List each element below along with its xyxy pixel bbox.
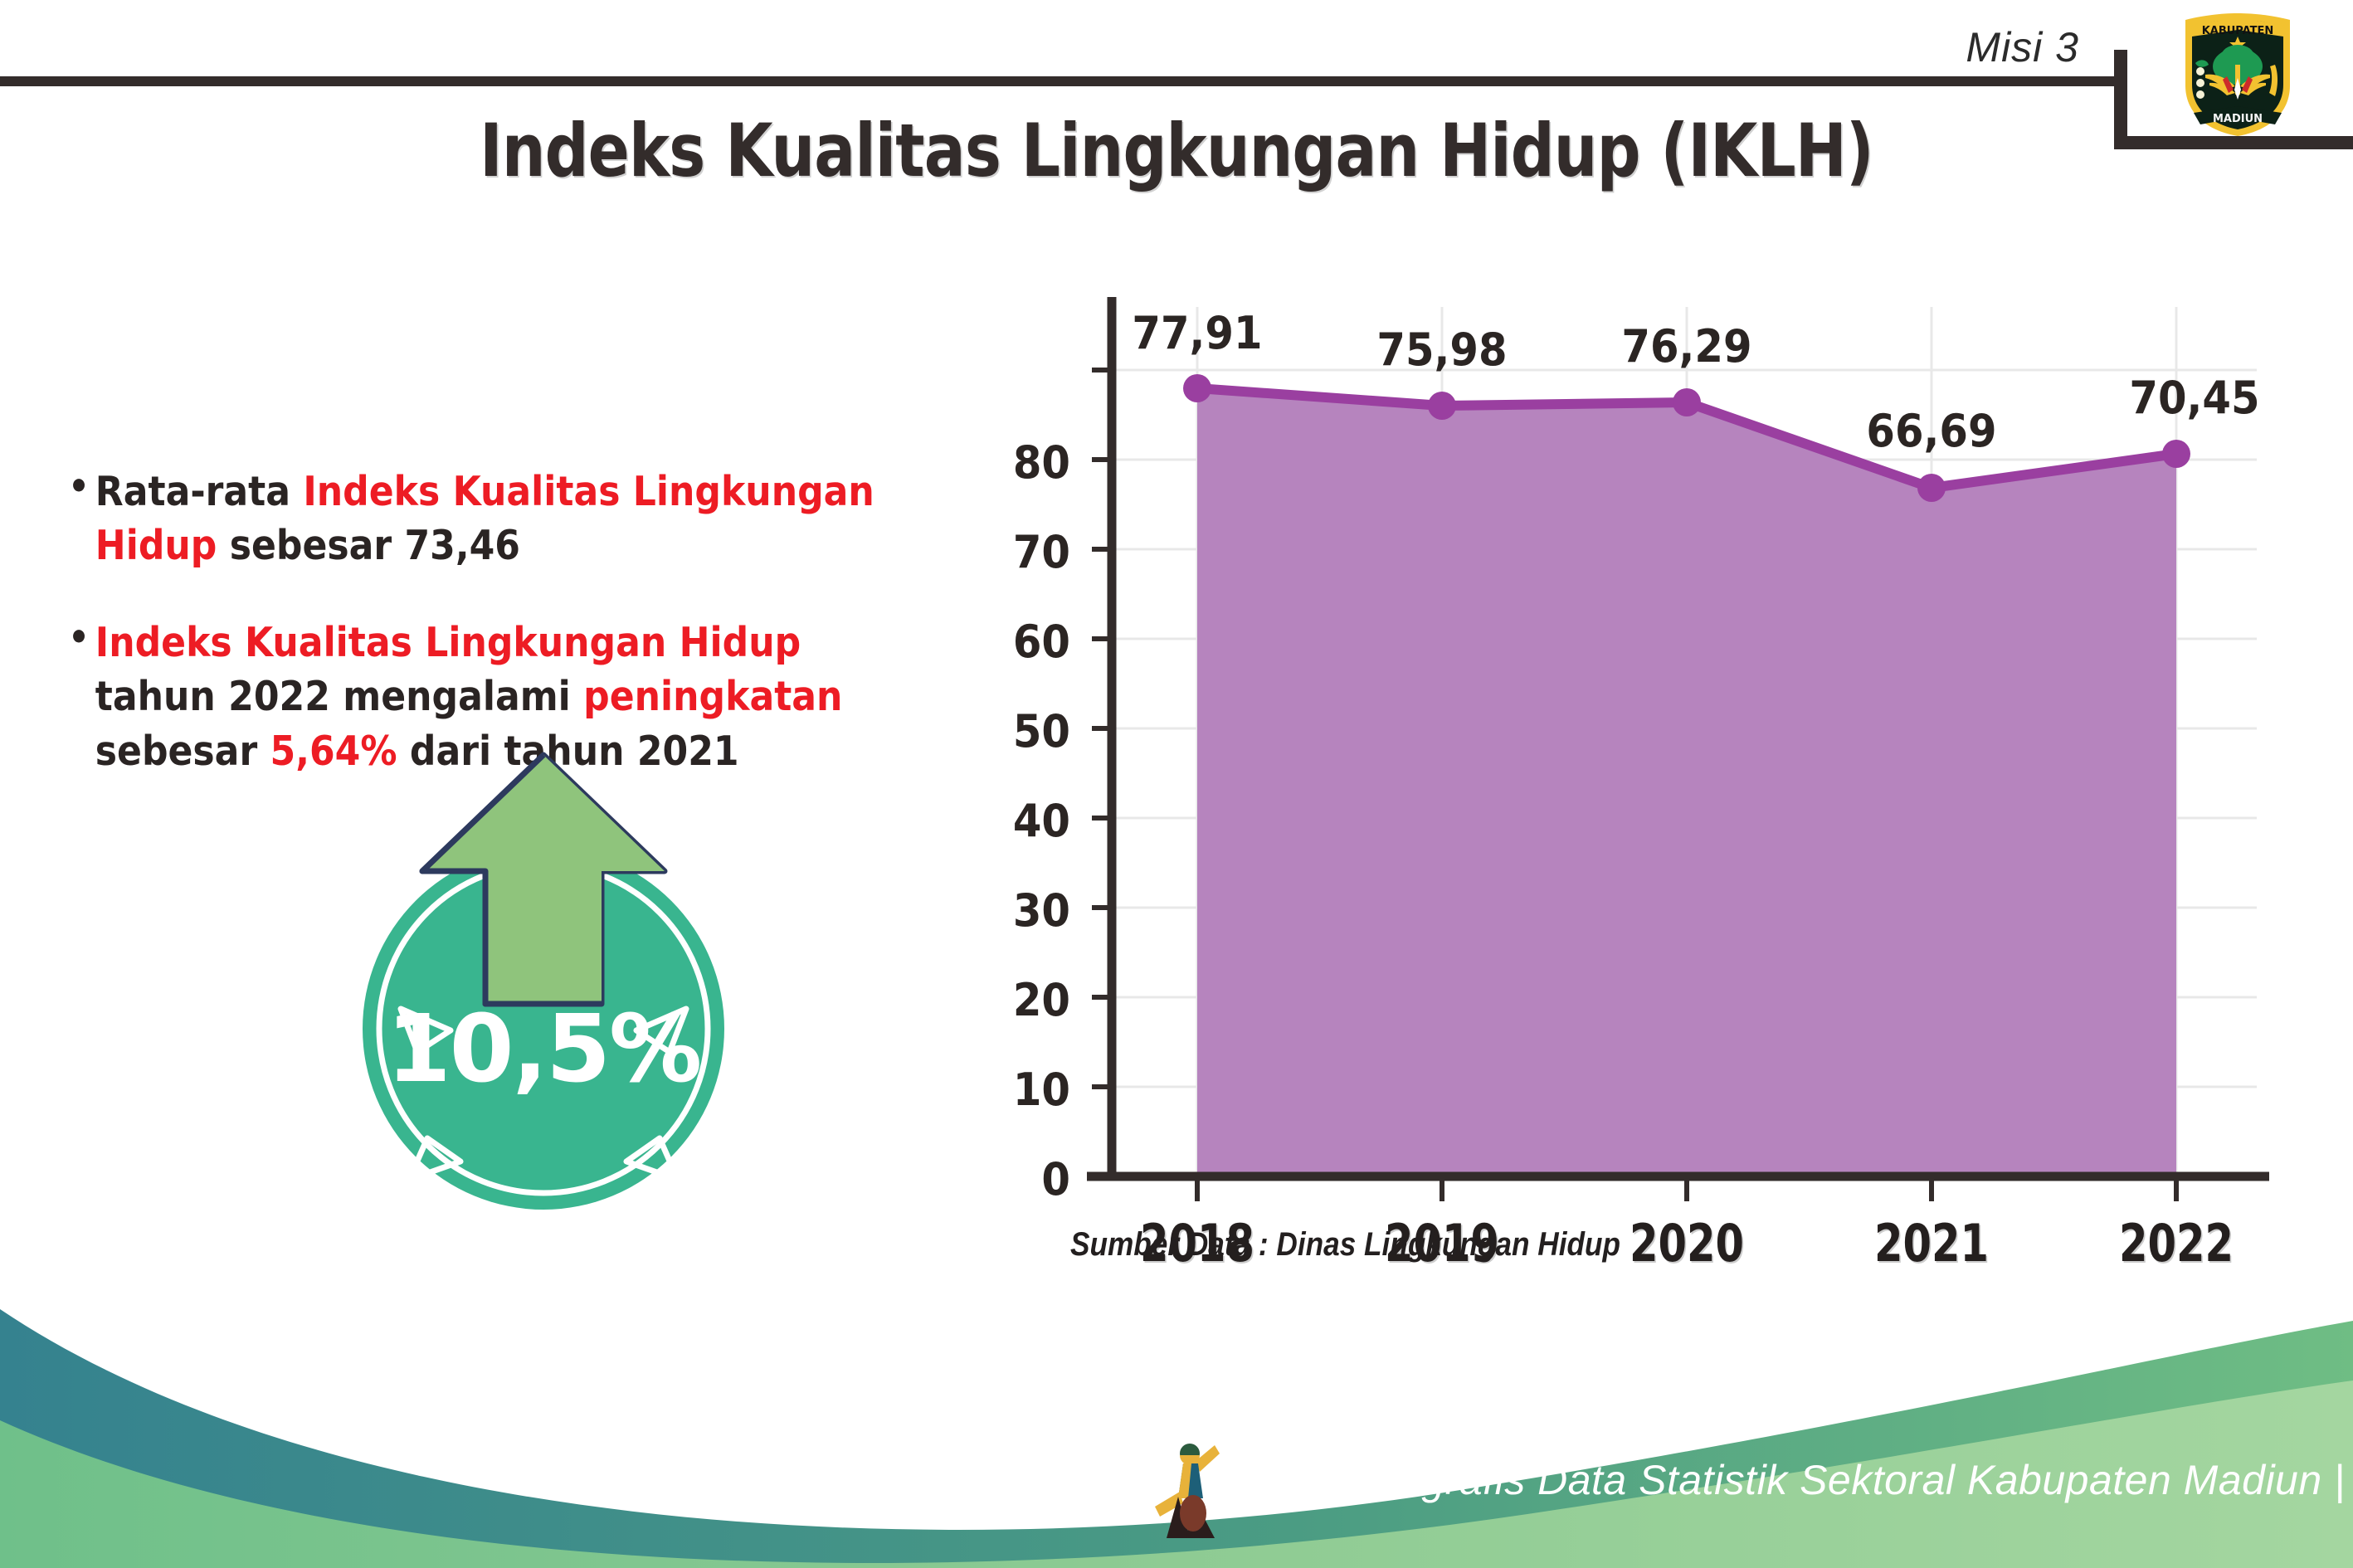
y-tick-label: 30 bbox=[979, 884, 1070, 937]
slide-root: Misi 3 KABUPATEN MADIUN I bbox=[0, 0, 2353, 1568]
y-tick-label: 60 bbox=[979, 616, 1070, 668]
y-tick-label: 20 bbox=[979, 974, 1070, 1026]
mission-label: Misi 3 bbox=[1966, 23, 2079, 71]
bullet1-prefix: Rata-rata bbox=[95, 468, 304, 515]
bullet2-highlight1: Indeks Kualitas Lingkungan Hidup bbox=[95, 619, 801, 666]
y-tick-label: 50 bbox=[979, 705, 1070, 757]
data-label: 76,29 bbox=[1591, 320, 1782, 373]
footer-caption: Media Infografis Data Statistik Sektoral… bbox=[1224, 1456, 2346, 1504]
y-tick-label: 70 bbox=[979, 526, 1070, 578]
data-label: 70,45 bbox=[2099, 372, 2290, 424]
x-tick-label: 2021 bbox=[1855, 1213, 2008, 1273]
x-tick-label: 2020 bbox=[1610, 1213, 1763, 1273]
chart-area-fill bbox=[1197, 388, 2176, 1176]
source-note: Sumber Data : Dinas Lingkungan Hidup bbox=[1070, 1226, 1620, 1264]
y-tick-label: 0 bbox=[979, 1153, 1070, 1205]
y-tick-label: 80 bbox=[979, 436, 1070, 489]
data-label: 66,69 bbox=[1836, 405, 2027, 457]
up-arrow-icon bbox=[411, 747, 676, 1037]
bullet2-highlight2: peningkatan bbox=[583, 673, 842, 720]
page-title: Indeks Kualitas Lingkungan Hidup (IKLH) bbox=[188, 108, 2165, 193]
kabupaten-madiun-crest-icon: KABUPATEN MADIUN bbox=[2175, 7, 2300, 139]
growth-badge: 10,5% bbox=[328, 747, 759, 1211]
list-item: Rata-rata Indeks Kualitas Lingkungan Hid… bbox=[71, 465, 885, 572]
badge-percent-value: 10,5% bbox=[328, 996, 759, 1103]
bullet2-mid1: tahun 2022 mengalami bbox=[95, 673, 583, 720]
bullet2-mid2: sebesar bbox=[95, 728, 270, 775]
data-label: 75,98 bbox=[1347, 324, 1537, 376]
bullet-list: Rata-rata Indeks Kualitas Lingkungan Hid… bbox=[71, 465, 976, 778]
svg-text:KABUPATEN: KABUPATEN bbox=[2202, 25, 2274, 37]
svg-text:MADIUN: MADIUN bbox=[2213, 113, 2263, 125]
y-tick-label: 40 bbox=[979, 795, 1070, 847]
iklh-area-chart: 0 10 20 30 40 50 60 70 80 77,91 75,98 76… bbox=[987, 274, 2282, 1211]
chart-canvas bbox=[987, 274, 2282, 1211]
y-tick-label: 10 bbox=[979, 1064, 1070, 1116]
dancer-icon bbox=[1143, 1434, 1235, 1541]
bullet1-suffix: sebesar 73,46 bbox=[217, 522, 520, 569]
data-label: 77,91 bbox=[1102, 307, 1293, 359]
header-rule bbox=[0, 76, 2114, 86]
x-tick-label: 2022 bbox=[2100, 1213, 2253, 1273]
